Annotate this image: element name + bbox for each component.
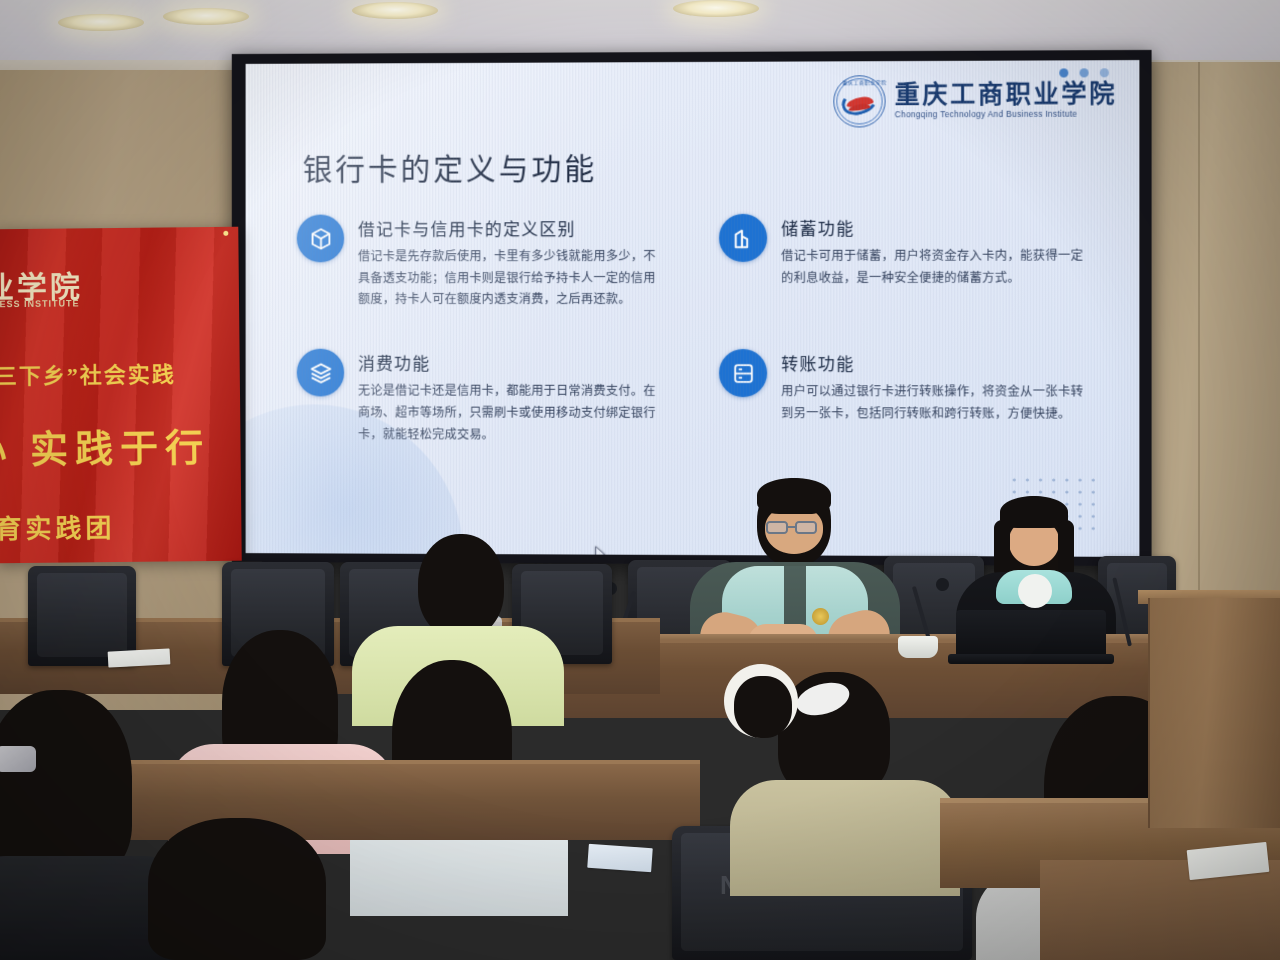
slide-card: 借记卡与信用卡的定义区别 借记卡是先存款后使用，卡里有多少钱就能用多少，不具备透…	[297, 214, 685, 311]
seal-top-text: 重庆工商职业学院	[842, 79, 886, 86]
laptop-base[interactable]	[948, 654, 1114, 664]
slide-card: 转账功能 用户可以通过银行卡进行转账操作，将资金从一张卡转到另一张卡，包括同行转…	[719, 349, 1113, 447]
banner-pin	[223, 231, 228, 236]
banner-line-5: 教育实践团	[0, 508, 116, 547]
card-body-text: 无论是借记卡还是信用卡，都能用于日常消费支付。在商场、超市等场所，只需刷卡或使用…	[358, 381, 666, 447]
audience-head	[0, 690, 132, 878]
microphone-head-icon	[936, 578, 949, 591]
vest-emblem-icon	[812, 608, 829, 625]
paper-sheet	[108, 648, 171, 667]
school-seal-icon: 重庆工商职业学院	[833, 75, 885, 127]
school-logo: 重庆工商职业学院 重庆工商职业学院 Chongqing Technology A…	[833, 74, 1117, 127]
red-event-banner: 职业学院 SS BUSINESS INSTITUTE 期“三下乡”社会实践 心 …	[0, 227, 242, 564]
speaker-female-hair	[1058, 520, 1074, 578]
slide-card: 储蓄功能 借记卡可用于储蓄，用户将资金存入卡内，能获得一定的利息收益，是一种安全…	[719, 213, 1113, 311]
card-heading: 储蓄功能	[781, 214, 1094, 240]
audience-shoulders	[730, 780, 960, 896]
banner-line-2: SS BUSINESS INSTITUTE	[0, 298, 80, 309]
ceiling-light-icon	[673, 0, 759, 17]
bank-building-icon	[719, 214, 767, 262]
slide-card: 消费功能 无论是借记卡还是信用卡，都能用于日常消费支付。在商场、超市等场所，只需…	[297, 349, 685, 446]
audience-desk-row-4	[1040, 860, 1280, 960]
glasses-icon	[795, 521, 817, 534]
ceiling-light-icon	[352, 2, 438, 19]
card-body-text: 用户可以通过银行卡进行转账操作，将资金从一张卡转到另一张卡，包括同行转账和跨行转…	[781, 381, 1094, 425]
ceiling-light-icon	[58, 14, 144, 31]
cube-icon	[297, 215, 344, 263]
wall-panel-seam	[1198, 62, 1200, 662]
card-heading: 借记卡与信用卡的定义区别	[358, 215, 666, 240]
lecture-hall-scene: 重庆工商职业学院 重庆工商职业学院 Chongqing Technology A…	[0, 0, 1280, 960]
speaker-female-hair	[1000, 496, 1068, 528]
slide-card-grid: 借记卡与信用卡的定义区别 借记卡是先存款后使用，卡里有多少钱就能用多少，不具备透…	[297, 213, 1113, 447]
slide-surface[interactable]: 重庆工商职业学院 重庆工商职业学院 Chongqing Technology A…	[246, 60, 1140, 557]
banner-line-3: 期“三下乡”社会实践	[0, 357, 176, 391]
audience-head	[148, 818, 326, 960]
card-body-text: 借记卡可用于储蓄，用户将资金存入卡内，能获得一定的利息收益，是一种安全便捷的储蓄…	[781, 246, 1094, 290]
banner-line-4: 心 实践于行	[0, 417, 210, 475]
speaker-female-collar	[1018, 574, 1052, 608]
glasses-bridge	[788, 526, 795, 528]
layers-icon	[297, 349, 344, 397]
hair-clip-icon	[0, 746, 36, 772]
speaker-male-hair	[757, 478, 831, 514]
ceiling-light-icon	[163, 8, 249, 25]
card-heading: 消费功能	[358, 350, 666, 375]
card-body-text: 借记卡是先存款后使用，卡里有多少钱就能用多少，不具备透支功能；信用卡则是银行给予…	[358, 246, 666, 311]
presentation-screen[interactable]: 重庆工商职业学院 重庆工商职业学院 Chongqing Technology A…	[232, 50, 1152, 566]
glasses-icon	[766, 521, 788, 534]
mouse-cursor-icon	[594, 546, 607, 557]
school-name-cn: 重庆工商职业学院	[895, 82, 1117, 108]
podium	[1148, 598, 1280, 828]
cup	[898, 636, 938, 658]
speaker-female-hair	[994, 520, 1010, 578]
paper-sheet	[587, 844, 653, 872]
slide-title: 银行卡的定义与功能	[303, 144, 597, 189]
school-name-en: Chongqing Technology And Business Instit…	[895, 110, 1117, 119]
laptop-screen[interactable]	[956, 610, 1106, 658]
transfer-rows-icon	[719, 349, 767, 397]
audience-head	[418, 534, 504, 638]
audience-head	[734, 676, 792, 738]
card-heading: 转账功能	[781, 350, 1094, 375]
